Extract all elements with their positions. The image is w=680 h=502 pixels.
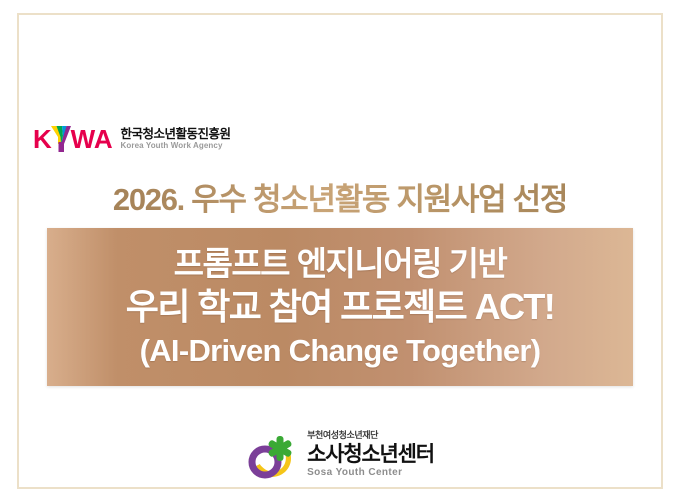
- kywa-name-english: Korea Youth Work Agency: [121, 142, 231, 151]
- project-title-line-2: 우리 학교 참여 프로젝트 ACT!: [126, 285, 554, 329]
- sosa-youth-center-logo: 부천여성청소년재단 소사청소년센터 Sosa Youth Center: [0, 430, 680, 480]
- ribbon-top-left-icon: [0, 0, 430, 194]
- kywa-letter-w: W: [71, 126, 94, 152]
- sosa-name-block: 부천여성청소년재단 소사청소년센터 Sosa Youth Center: [307, 431, 434, 478]
- kywa-letter-k: K: [33, 126, 51, 152]
- kywa-logo: K W A 한국청소년활동진흥원 Korea Youth Work Agency: [33, 126, 231, 152]
- page-title: 2026. 우수 청소년활동 지원사업 선정: [0, 174, 680, 219]
- project-title-box: 프롬프트 엔지니어링 기반 우리 학교 참여 프로젝트 ACT! (AI-Dri…: [47, 228, 633, 386]
- project-title-line-3: (AI-Driven Change Together): [140, 331, 541, 371]
- kywa-rainbow-y-icon: [51, 126, 71, 152]
- sosa-center-name-english: Sosa Youth Center: [307, 468, 434, 479]
- project-title-line-1: 프롬프트 엔지니어링 기반: [174, 243, 507, 285]
- sosa-foundation-name: 부천여성청소년재단: [307, 431, 434, 440]
- sosa-emblem-icon: [246, 430, 298, 480]
- kywa-name-korean: 한국청소년활동진흥원: [121, 127, 231, 141]
- kywa-letter-a: A: [94, 126, 112, 152]
- kywa-name-block: 한국청소년활동진흥원 Korea Youth Work Agency: [121, 127, 231, 151]
- poster-canvas: K W A 한국청소년활동진흥원 Korea Youth Work Agency…: [0, 0, 680, 502]
- kywa-wordmark: K W A: [33, 126, 112, 152]
- sosa-center-name-korean: 소사청소년센터: [307, 443, 434, 466]
